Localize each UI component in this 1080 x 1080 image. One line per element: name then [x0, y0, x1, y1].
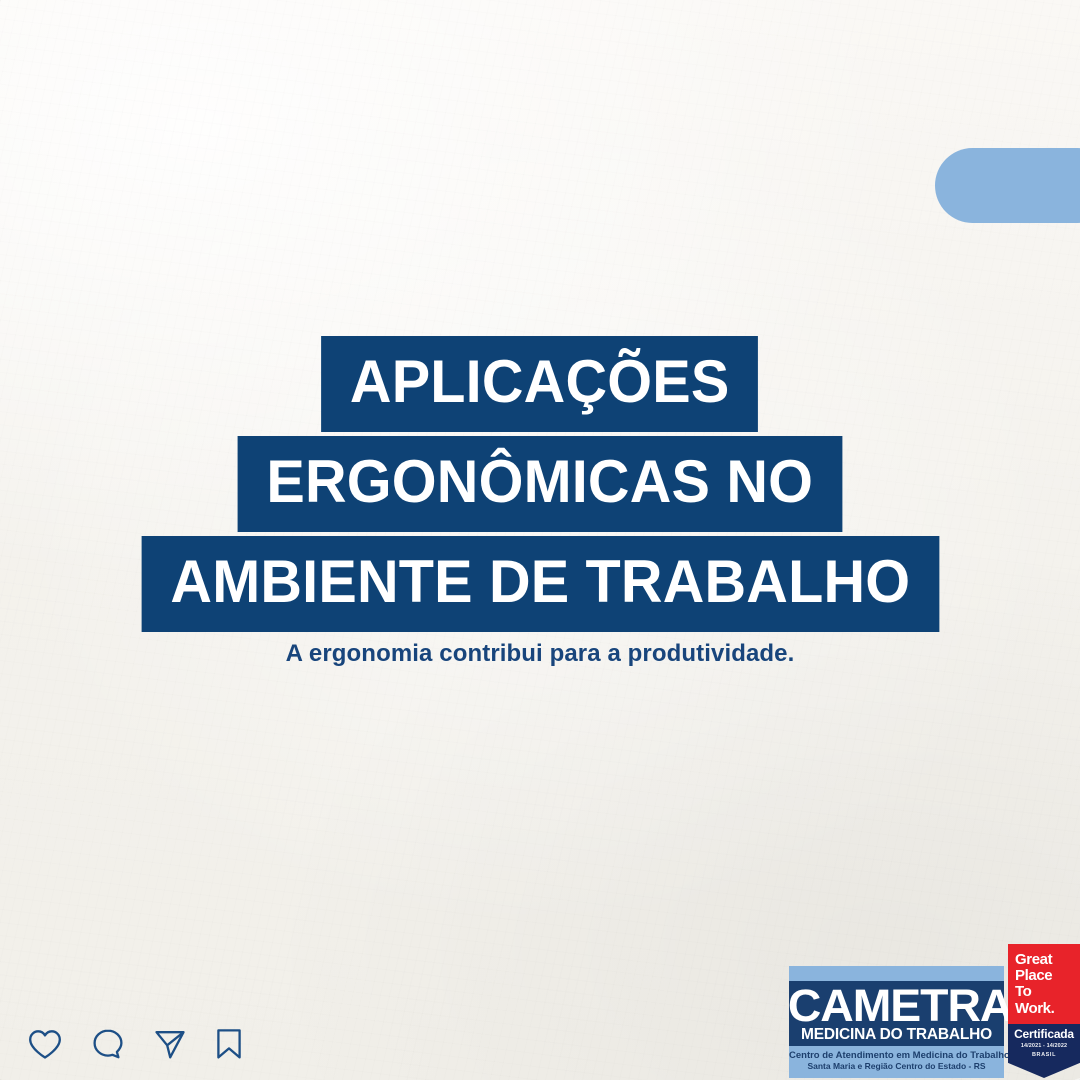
- subtitle-text: A ergonomia contribui para a produtivida…: [0, 640, 1080, 668]
- cametra-logo: CAMETRA MEDICINA DO TRABALHO Centro de A…: [789, 966, 1004, 1078]
- title-block: APLICAÇÕES ERGONÔMICAS NO AMBIENTE DE TR…: [0, 336, 1080, 632]
- gptw-word-great: Great: [1015, 952, 1073, 968]
- gptw-date-range: 14/2021 - 14/2022: [1012, 1043, 1076, 1049]
- comment-icon[interactable]: [92, 1028, 124, 1060]
- gptw-certified-label: Certificada: [1012, 1028, 1076, 1041]
- gptw-word-work: Work.: [1015, 1001, 1073, 1017]
- title-line-2: ERGONÔMICAS NO: [238, 436, 842, 532]
- title-line-3: AMBIENTE DE TRABALHO: [141, 536, 938, 632]
- gptw-country-label: BRASIL: [1012, 1052, 1076, 1058]
- gptw-word-place: Place: [1015, 968, 1073, 984]
- cametra-wordmark: CAMETRA: [786, 983, 1007, 1027]
- cametra-navy-block: CAMETRA MEDICINA DO TRABALHO: [789, 981, 1004, 1046]
- cametra-tagline-line1: Centro de Atendimento em Medicina do Tra…: [789, 1046, 1004, 1062]
- title-row-2: ERGONÔMICAS NO: [0, 432, 1080, 532]
- send-icon[interactable]: [154, 1028, 186, 1060]
- title-row-3: AMBIENTE DE TRABALHO: [0, 532, 1080, 632]
- gptw-navy-ribbon: Certificada 14/2021 - 14/2022 BRASIL: [1008, 1024, 1080, 1078]
- gptw-red-block: Great Place To Work.: [1008, 944, 1080, 1024]
- social-post-canvas: APLICAÇÕES ERGONÔMICAS NO AMBIENTE DE TR…: [0, 0, 1080, 1080]
- bookmark-icon[interactable]: [216, 1028, 242, 1060]
- rounded-pill-decoration: [935, 148, 1080, 223]
- heart-icon[interactable]: [28, 1029, 62, 1060]
- logo-area: CAMETRA MEDICINA DO TRABALHO Centro de A…: [789, 944, 1080, 1078]
- title-row-1: APLICAÇÕES: [0, 336, 1080, 432]
- cametra-tagline-line2: Santa Maria e Região Centro do Estado - …: [789, 1061, 1004, 1078]
- title-line-1: APLICAÇÕES: [321, 336, 758, 432]
- cametra-subtitle: MEDICINA DO TRABALHO: [789, 1027, 1004, 1045]
- great-place-to-work-badge: Great Place To Work. Certificada 14/2021…: [1008, 944, 1080, 1078]
- social-action-bar: [28, 1028, 242, 1060]
- gptw-word-to: To: [1015, 984, 1073, 1000]
